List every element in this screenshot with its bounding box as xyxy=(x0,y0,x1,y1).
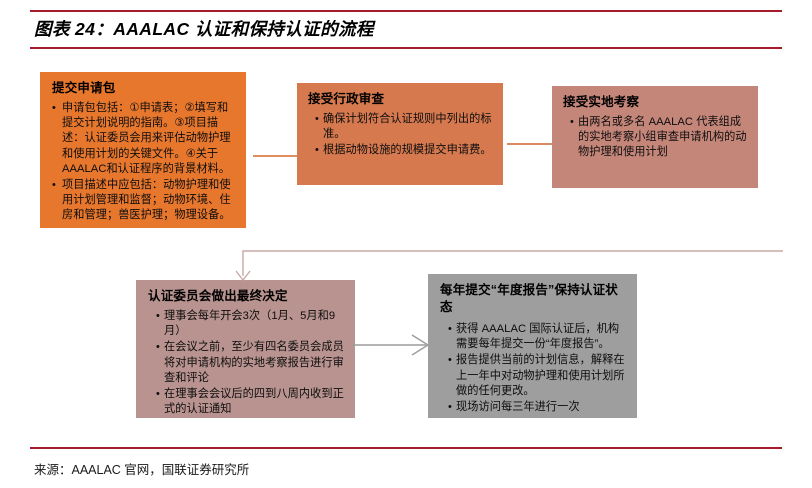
connector-review-to-sitevisit xyxy=(507,143,552,145)
list-item: 在会议之前，至少有四名委员会成员将对申请机构的实地考察报告进行审查和评论 xyxy=(156,340,345,386)
header-divider-bottom xyxy=(30,47,782,49)
list-item: 确保计划符合认证规则中列出的标准。 xyxy=(315,112,493,142)
flow-box-submit-application: 提交申请包 申请包包括：①申请表；②填写和提交计划说明的指南。③项目描述：认证委… xyxy=(40,72,246,228)
list-item: 现场访问每三年进行一次 xyxy=(448,400,627,415)
connector-submit-to-review xyxy=(253,155,297,157)
list-item: 在理事会会议后的四到八周内收到正式的认证通知 xyxy=(156,387,345,417)
list-item: 报告提供当前的计划信息，解释在上一年中对动物护理和使用计划所做的任何更改。 xyxy=(448,353,627,399)
list-item: 理事会每年开会3次（1月、5月和9月） xyxy=(156,309,345,339)
list-item: 项目描述中应包括：动物护理和使用计划管理和监督；动物环境、住房和管理；兽医护理；… xyxy=(52,178,236,224)
list-item: 由两名或多名 AAALAC 代表组成的实地考察小组审查申请机构的动物护理和使用计… xyxy=(570,115,748,161)
flow-box-council-decision: 认证委员会做出最终决定 理事会每年开会3次（1月、5月和9月） 在会议之前，至少… xyxy=(136,280,355,418)
flow-box-title: 提交申请包 xyxy=(52,80,236,97)
flow-box-bullet-list: 获得 AAALAC 国际认证后，机构需要每年提交一份“年度报告”。 报告提供当前… xyxy=(440,322,627,415)
connector-decision-to-annual xyxy=(352,330,434,360)
source-note: 来源：AAALAC 官网，国联证券研究所 xyxy=(34,459,249,478)
flow-box-bullet-list: 申请包包括：①申请表；②填写和提交计划说明的指南。③项目描述：认证委员会用来评估… xyxy=(52,101,236,224)
connector-sitevisit-to-decision xyxy=(0,228,812,298)
list-item: 获得 AAALAC 国际认证后，机构需要每年提交一份“年度报告”。 xyxy=(448,322,627,352)
flow-box-title: 接受行政审查 xyxy=(308,91,493,108)
list-item: 申请包包括：①申请表；②填写和提交计划说明的指南。③项目描述：认证委员会用来评估… xyxy=(52,101,236,177)
flow-box-bullet-list: 确保计划符合认证规则中列出的标准。 根据动物设施的规模提交申请费。 xyxy=(308,112,493,159)
list-item: 根据动物设施的规模提交申请费。 xyxy=(315,143,493,158)
footer-divider xyxy=(30,447,782,449)
page-title: 图表 24：AAALAC 认证和保持认证的流程 xyxy=(34,16,374,42)
flow-box-bullet-list: 理事会每年开会3次（1月、5月和9月） 在会议之前，至少有四名委员会成员将对申请… xyxy=(148,309,345,417)
flow-box-title: 接受实地考察 xyxy=(563,94,748,111)
header-divider-top xyxy=(30,10,782,12)
flow-box-site-visit: 接受实地考察 由两名或多名 AAALAC 代表组成的实地考察小组审查申请机构的动… xyxy=(552,86,758,188)
flow-box-bullet-list: 由两名或多名 AAALAC 代表组成的实地考察小组审查申请机构的动物护理和使用计… xyxy=(563,115,748,161)
flow-box-administrative-review: 接受行政审查 确保计划符合认证规则中列出的标准。 根据动物设施的规模提交申请费。 xyxy=(297,83,503,185)
